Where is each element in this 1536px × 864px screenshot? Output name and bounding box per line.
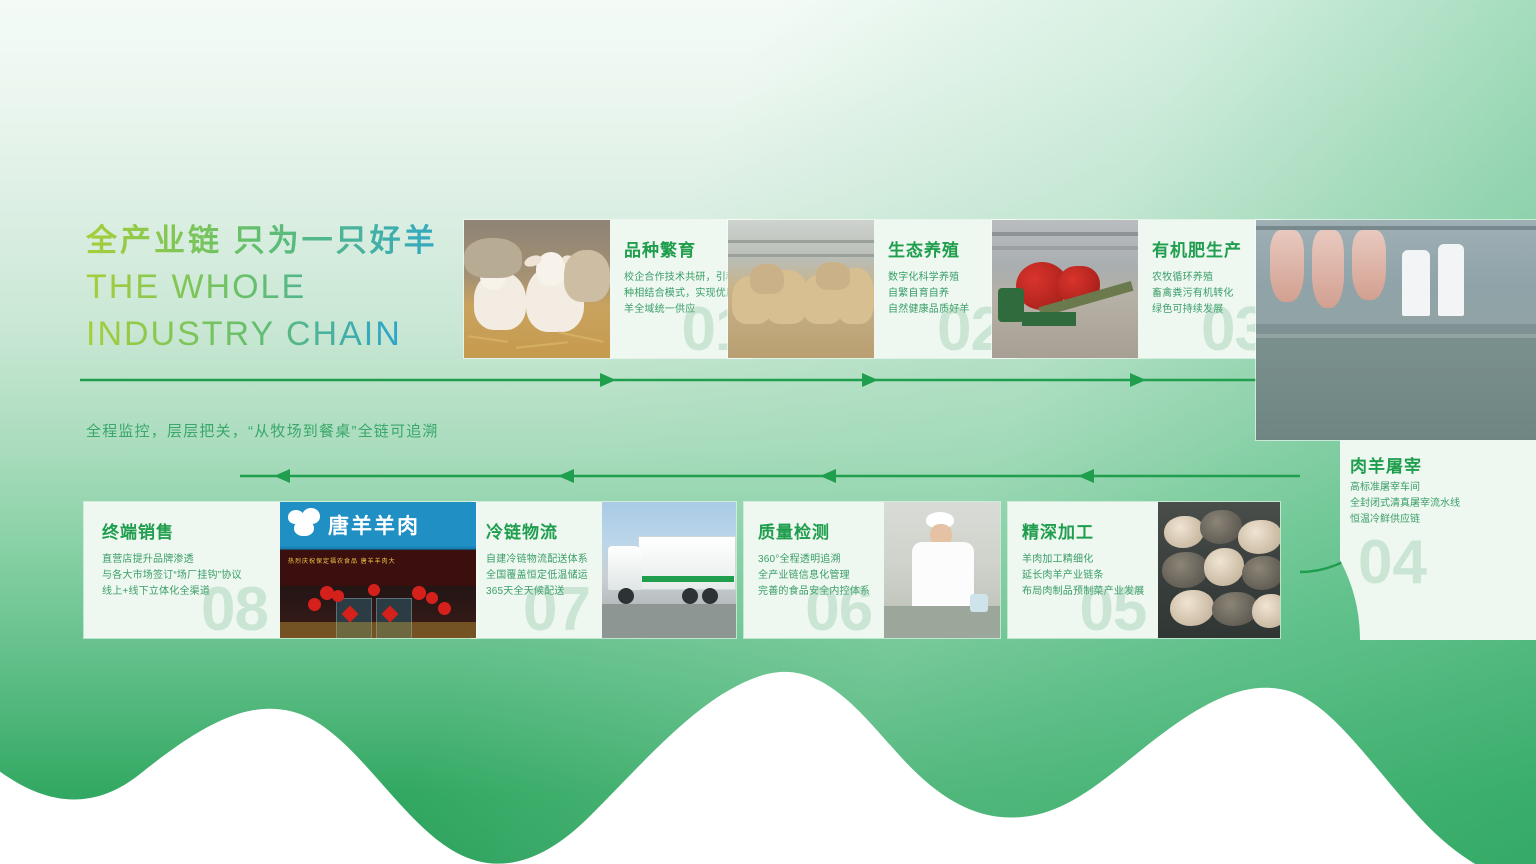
headline-english-line2: INDUSTRY CHAIN — [86, 314, 486, 355]
process-card-07[interactable]: 冷链物流 自建冷链物流配送体系 全国覆盖恒定低温储运 365天全天候配送 07 — [472, 502, 736, 638]
card-08-number: 08 — [201, 583, 268, 636]
infographic-canvas: 全产业链 只为一只好羊 THE WHOLE INDUSTRY CHAIN 全程监… — [0, 0, 1536, 864]
process-card-06[interactable]: 质量检测 360°全程透明追溯 全产业链信息化管理 完善的食品安全内控体系 06 — [744, 502, 1000, 638]
card-03-title: 有机肥生产 — [1152, 242, 1266, 259]
card-04-title: 肉羊屠宰 — [1350, 452, 1422, 477]
card-05-number: 05 — [1079, 583, 1146, 636]
storefront-sign-text: 唐羊羊肉 — [328, 510, 420, 540]
headline-english-line1: THE WHOLE — [86, 267, 486, 308]
process-card-04[interactable]: 肉羊屠宰 高标准屠宰车间 全封闭式清真屠宰流水线 恒温冷鲜供应链 04 — [1340, 440, 1536, 640]
card-08-title: 终端销售 — [102, 524, 266, 541]
lab-inspection-photo — [884, 502, 1000, 638]
subtitle-text: 全程监控，层层把关，“从牧场到餐桌”全链可追溯 — [86, 420, 439, 441]
headline-chinese: 全产业链 只为一只好羊 — [86, 222, 486, 261]
card-06-number: 06 — [805, 583, 872, 636]
sheep-pen-photo — [728, 220, 874, 358]
card-06-panel: 质量检测 360°全程透明追溯 全产业链信息化管理 完善的食品安全内控体系 06 — [744, 502, 884, 638]
process-card-01[interactable]: 品种繁育 校企合作技术共研，引种育 种相结合模式，实现优质羔 羊全域统一供应 0… — [464, 220, 752, 358]
card-06-title: 质量检测 — [758, 524, 870, 541]
slaughter-line-photo — [1256, 220, 1536, 440]
process-card-03[interactable]: 有机肥生产 农牧循环养殖 畜禽粪污有机转化 绿色可持续发展 03 — [992, 220, 1280, 358]
process-card-05[interactable]: 精深加工 羊肉加工精细化 延长肉羊产业链条 布局肉制品预制菜产业发展 05 — [1008, 502, 1280, 638]
card-07-title: 冷链物流 — [486, 524, 588, 541]
process-card-08[interactable]: 终端销售 直营店提升品牌渗透 与各大市场签订“场厂挂钩”协议 线上+线下立体化全… — [84, 502, 476, 638]
card-07-number: 07 — [523, 583, 590, 636]
organic-fertilizer-plant-photo — [992, 220, 1138, 358]
storefront-photo: 唐羊羊肉 热烈庆祝保定福农食品 唐羊羊肉大 — [280, 502, 476, 638]
card-05-title: 精深加工 — [1022, 524, 1144, 541]
cold-chain-truck-photo — [602, 502, 736, 638]
wave-decoration — [0, 604, 1536, 864]
process-card-02[interactable]: 生态养殖 数字化科学养殖 自繁自育自养 自然健康品质好羊 02 — [728, 220, 1016, 358]
card-05-panel: 精深加工 羊肉加工精细化 延长肉羊产业链条 布局肉制品预制菜产业发展 05 — [1008, 502, 1158, 638]
headline-block: 全产业链 只为一只好羊 THE WHOLE INDUSTRY CHAIN — [86, 222, 486, 356]
card-08-panel: 终端销售 直营店提升品牌渗透 与各大市场签订“场厂挂钩”协议 线上+线下立体化全… — [84, 502, 280, 638]
card-04-desc: 高标准屠宰车间 全封闭式清真屠宰流水线 恒温冷鲜供应链 — [1350, 480, 1460, 529]
processed-meat-photo — [1158, 502, 1280, 638]
process-card-04-photo — [1256, 220, 1536, 440]
storefront-banner-text: 热烈庆祝保定福农食品 唐羊羊肉大 — [288, 556, 396, 565]
card-02-title: 生态养殖 — [888, 242, 1002, 259]
card-04-number: 04 — [1358, 536, 1427, 589]
card-07-panel: 冷链物流 自建冷链物流配送体系 全国覆盖恒定低温储运 365天全天候配送 07 — [472, 502, 602, 638]
lambs-on-straw-photo — [464, 220, 610, 358]
